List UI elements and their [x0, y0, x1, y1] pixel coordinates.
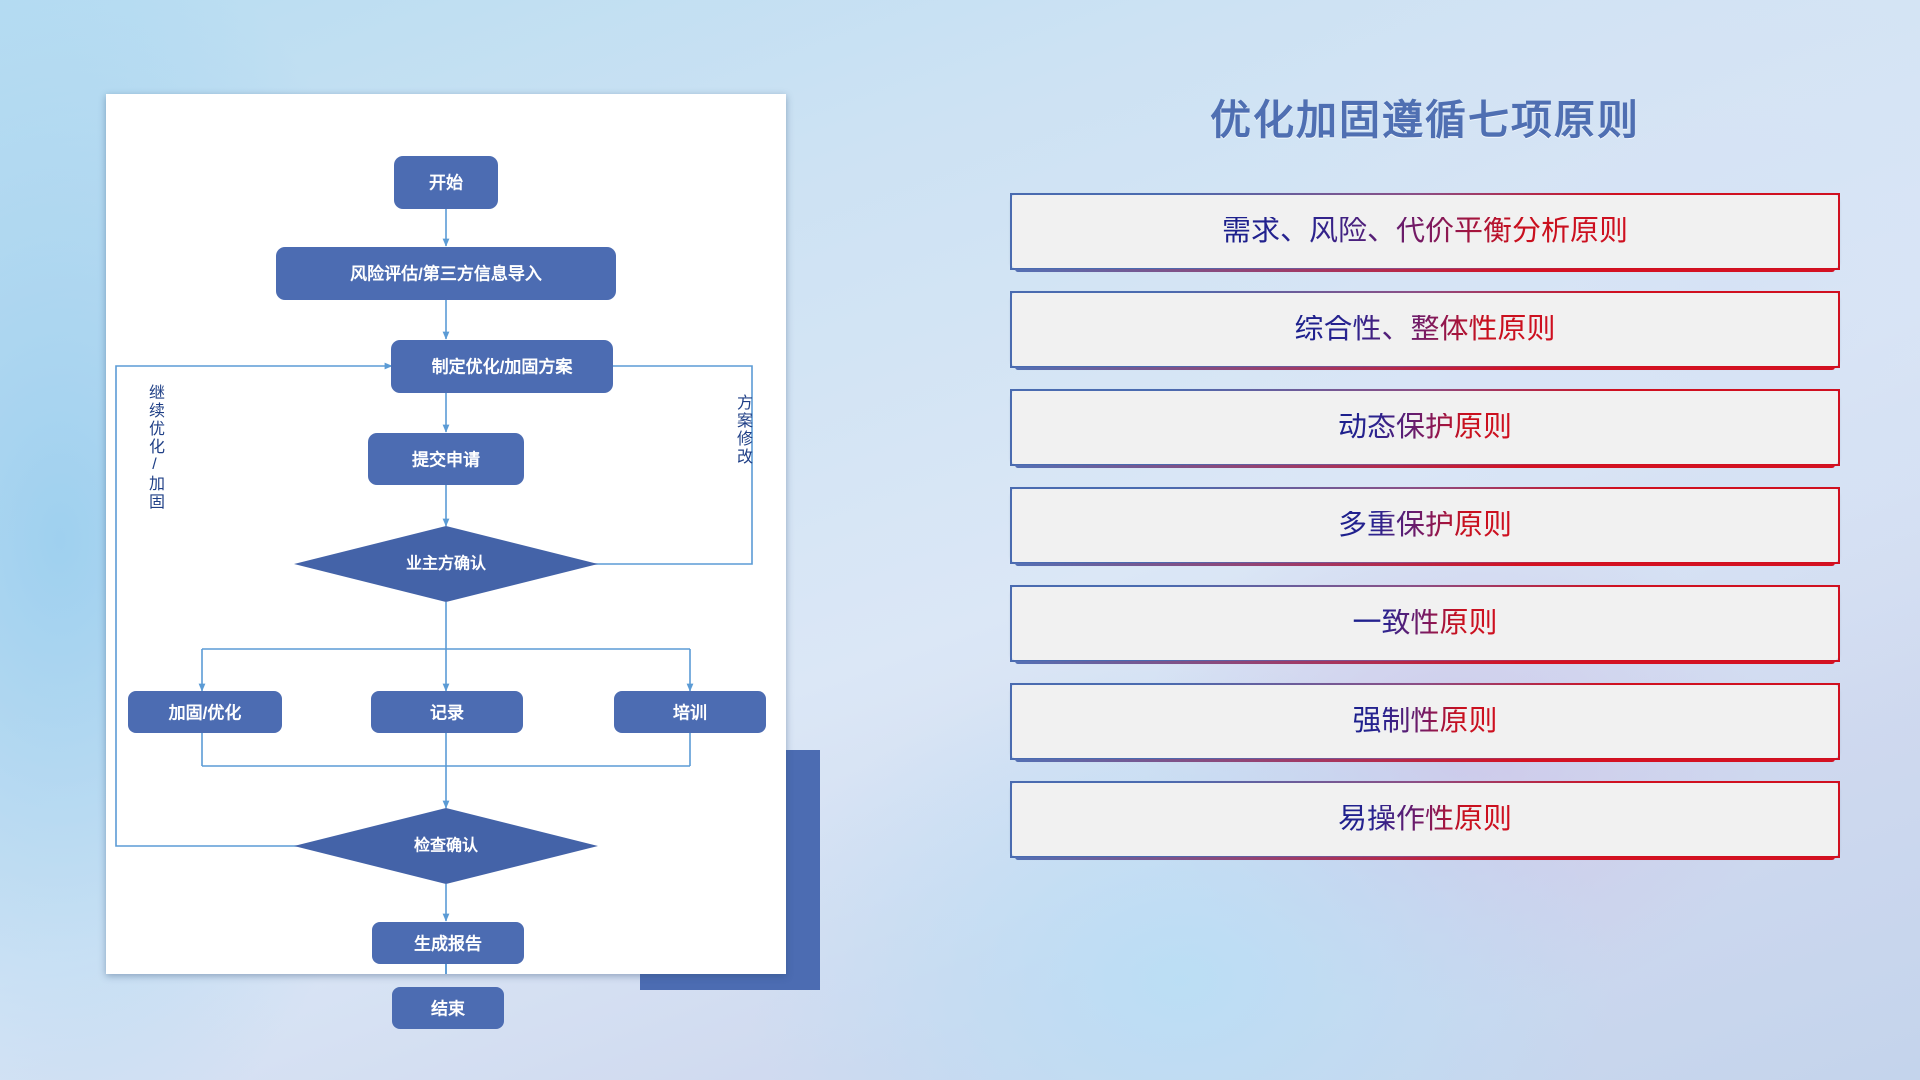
principle-item[interactable]: 强制性原则 — [1010, 683, 1840, 760]
principles-list: 需求、风险、代价平衡分析原则 综合性、整体性原则 动态保护原则 多重保护原则 一… — [1010, 193, 1840, 858]
principle-item-label: 需求、风险、代价平衡分析原则 — [1222, 217, 1628, 246]
principle-item-label: 动态保护原则 — [1338, 413, 1512, 442]
principles-title: 优化加固遵循七项原则 — [1010, 96, 1840, 145]
principle-item[interactable]: 多重保护原则 — [1010, 487, 1840, 564]
flow-node-end-label: 结束 — [431, 999, 465, 1019]
principle-item[interactable]: 一致性原则 — [1010, 585, 1840, 662]
flowchart-svg-end: 结束 — [106, 94, 786, 974]
principle-item-label: 综合性、整体性原则 — [1294, 315, 1555, 344]
principle-item-label: 强制性原则 — [1352, 707, 1497, 736]
principle-item-label: 多重保护原则 — [1338, 511, 1512, 540]
principle-item[interactable]: 动态保护原则 — [1010, 389, 1840, 466]
principle-item-label: 易操作性原则 — [1338, 805, 1512, 834]
flow-node-end[interactable]: 结束 — [392, 987, 504, 1029]
principles-panel: 优化加固遵循七项原则 需求、风险、代价平衡分析原则 综合性、整体性原则 动态保护… — [1010, 96, 1840, 1016]
principle-item[interactable]: 需求、风险、代价平衡分析原则 — [1010, 193, 1840, 270]
flow-edge-label-right-loop: 方案修改 — [724, 394, 750, 466]
flow-edge-label-left-loop: 继续优化/加固 — [136, 384, 162, 511]
principle-item[interactable]: 易操作性原则 — [1010, 781, 1840, 858]
principle-item[interactable]: 综合性、整体性原则 — [1010, 291, 1840, 368]
flowchart-card: 开始 风险评估/第三方信息导入 制定优化/加固方案 提交申请 业主方确认 加固/… — [106, 94, 786, 974]
principle-item-label: 一致性原则 — [1352, 609, 1497, 638]
